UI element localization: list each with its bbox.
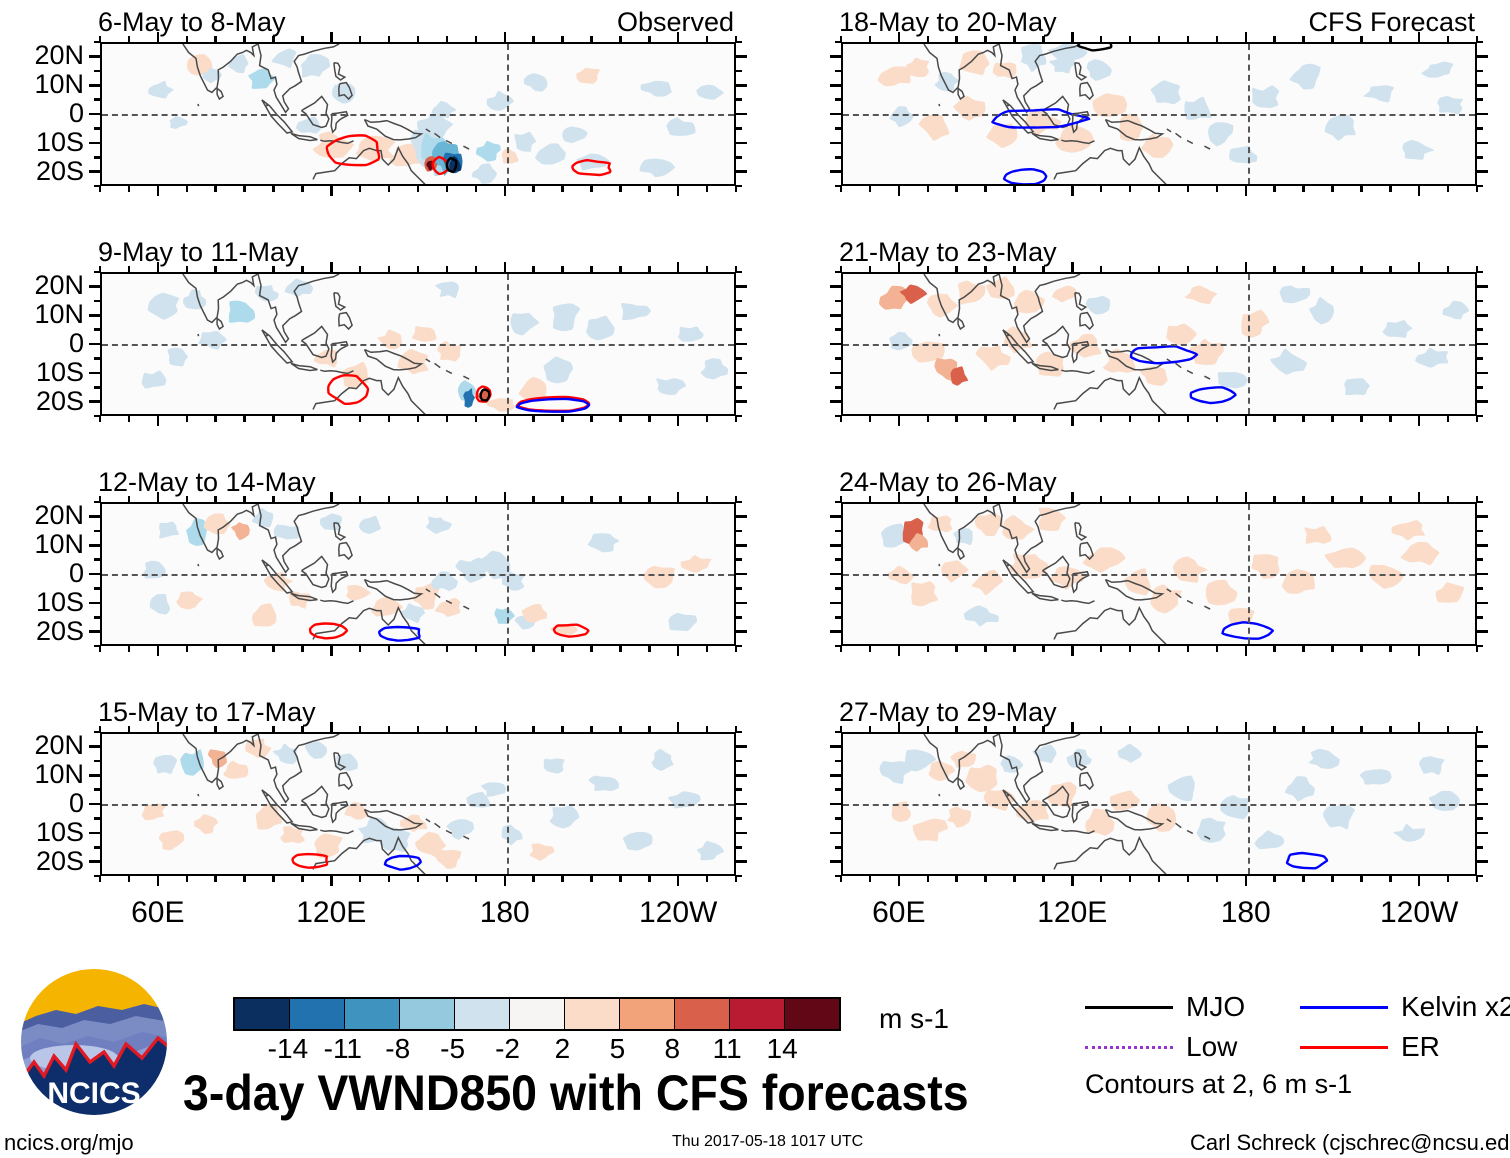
x-tick (532, 496, 535, 502)
x-tick (619, 266, 622, 272)
y-tick (89, 113, 100, 116)
x-tick (898, 416, 901, 426)
colorbar-swatch-4 (455, 999, 510, 1029)
y-tick-label: 0 (69, 330, 84, 357)
x-tick (186, 36, 189, 42)
anomaly-shading (621, 303, 651, 320)
coastline (217, 778, 223, 789)
x-tick (475, 496, 478, 502)
x-tick (1302, 876, 1305, 882)
anomaly-shading (1166, 324, 1197, 346)
y-tick (835, 156, 841, 159)
y-tick (1477, 113, 1488, 116)
y-tick (736, 300, 742, 303)
x-tick (1158, 186, 1161, 192)
y-tick (736, 745, 747, 748)
x-tick (1013, 266, 1016, 272)
coastline (1054, 608, 1170, 646)
equator-line (843, 114, 1475, 116)
y-tick (835, 300, 841, 303)
x-tick (417, 266, 420, 272)
anomaly-shading (656, 378, 686, 395)
dateline-marker (507, 44, 509, 184)
x-tick (590, 496, 593, 502)
x-tick (869, 416, 872, 422)
legend-line-swatch (1085, 1006, 1173, 1009)
anomaly-shading (1270, 349, 1307, 375)
y-tick (835, 530, 841, 533)
x-tick (359, 186, 362, 192)
anomaly-shading (696, 85, 723, 100)
colorbar-tick-label: -11 (324, 1035, 362, 1063)
x-tick (475, 266, 478, 272)
x-tick (214, 36, 217, 42)
y-tick (1477, 860, 1488, 863)
legend-label: ER (1401, 1033, 1440, 1061)
x-tick (475, 36, 478, 42)
x-tick (1187, 36, 1190, 42)
anomaly-shading (378, 330, 402, 350)
equator-line (843, 574, 1475, 576)
y-tick (1477, 170, 1488, 173)
anomaly-shading (150, 594, 170, 615)
anomaly-shading (1168, 776, 1195, 802)
coastline (463, 836, 469, 839)
column-header-forecast: CFS Forecast (1308, 9, 1475, 36)
x-tick (99, 496, 102, 502)
equator-line (102, 114, 734, 116)
x-tick (840, 646, 843, 652)
x-tick (532, 416, 535, 422)
x-tick (1302, 36, 1305, 42)
anomaly-shading (544, 356, 573, 383)
y-tick (1477, 156, 1483, 159)
x-tick (330, 876, 333, 886)
anomaly-shading (320, 513, 342, 530)
y-tick (736, 860, 747, 863)
footer-website[interactable]: ncics.org/mjo (4, 1130, 134, 1156)
y-tick-label: 10N (34, 71, 84, 98)
x-tick (186, 726, 189, 732)
y-tick (736, 55, 747, 58)
legend-item-mjo: MJO (1085, 993, 1245, 1021)
anomaly-shading (667, 117, 696, 136)
x-tick (1216, 36, 1219, 42)
anomaly-shading (435, 850, 461, 869)
anomaly-shading (1185, 285, 1218, 304)
y-tick (736, 803, 747, 806)
legend-label: Kelvin x2 (1401, 993, 1510, 1021)
x-tick (1071, 722, 1074, 732)
anomaly-shading (588, 776, 619, 791)
legend-label: Low (1186, 1033, 1237, 1061)
anomaly-shading (889, 332, 912, 351)
y-tick (89, 170, 100, 173)
anomaly-shading (1120, 114, 1144, 142)
y-tick (736, 832, 747, 835)
anomaly-shading (1036, 351, 1064, 376)
anomaly-shading (256, 804, 283, 830)
x-tick (1100, 726, 1103, 732)
coastline (1204, 146, 1210, 149)
colorbar-tick-label: 8 (664, 1035, 680, 1063)
y-axis-labels-p1: 20N10N010S20S (0, 42, 84, 186)
x-tick (735, 36, 738, 42)
anomaly-shading (1436, 582, 1465, 602)
map-plot-p6 (841, 272, 1477, 416)
dateline-marker (507, 504, 509, 644)
x-tick (1360, 876, 1363, 882)
y-tick (1477, 70, 1483, 73)
x-tick (1302, 496, 1305, 502)
coastline (939, 104, 940, 106)
x-tick (1447, 416, 1450, 422)
y-tick (736, 630, 747, 633)
x-tick (869, 186, 872, 192)
y-tick (736, 760, 742, 763)
y-tick (94, 530, 100, 533)
y-tick (736, 515, 747, 518)
y-tick (830, 285, 841, 288)
x-tick (1273, 36, 1276, 42)
x-tick (214, 646, 217, 652)
anomaly-shading (953, 528, 973, 545)
colorbar-swatch-8 (675, 999, 730, 1029)
y-tick (1477, 314, 1488, 317)
coastline (463, 146, 469, 149)
y-tick (835, 328, 841, 331)
x-tick (1245, 262, 1248, 272)
x-tick (677, 876, 680, 886)
y-tick (94, 788, 100, 791)
y-tick (736, 328, 742, 331)
y-tick (1477, 400, 1488, 403)
y-tick (1477, 55, 1488, 58)
contour-kelvin (385, 856, 421, 870)
y-tick (94, 587, 100, 590)
x-tick (840, 36, 843, 42)
y-tick (835, 788, 841, 791)
anomaly-shading (426, 517, 452, 534)
x-tick (157, 262, 160, 272)
x-tick (706, 726, 709, 732)
anomaly-shading (1280, 286, 1311, 304)
anomaly-shading (486, 398, 515, 411)
x-tick (1273, 646, 1276, 652)
colorbar-tick-label: 11 (713, 1035, 742, 1063)
x-tick (388, 36, 391, 42)
y-tick (1477, 587, 1483, 590)
footer-author[interactable]: Carl Schreck (cjschrec@ncsu.edu) (1190, 1130, 1510, 1156)
anomaly-shading (1393, 824, 1425, 842)
anomaly-shading (183, 289, 206, 309)
coastline (958, 778, 964, 789)
anomaly-shading (502, 825, 523, 846)
x-tick (927, 416, 930, 422)
y-tick (94, 558, 100, 561)
y-tick (736, 372, 747, 375)
anomaly-shading (588, 533, 620, 552)
x-tick (1447, 496, 1450, 502)
x-tick (955, 496, 958, 502)
y-tick (89, 544, 100, 547)
anomaly-shading (975, 513, 1004, 536)
x-tick (984, 36, 987, 42)
x-tick (590, 646, 593, 652)
legend-line-swatch (1300, 1006, 1388, 1009)
y-axis-labels-p4: 20N10N010S20S (0, 732, 84, 876)
anomaly-shading (284, 278, 313, 297)
anomaly-shading (1429, 791, 1460, 811)
legend-item-er: ER (1300, 1033, 1440, 1061)
y-tick (736, 774, 747, 777)
y-tick (736, 156, 742, 159)
y-tick (89, 400, 100, 403)
y-tick (89, 343, 100, 346)
x-tick (590, 36, 593, 42)
anomaly-shading (976, 346, 1011, 371)
y-tick (94, 357, 100, 360)
x-tick-label: 120W (1380, 898, 1458, 928)
y-tick (736, 170, 747, 173)
anomaly-shading (1218, 372, 1248, 388)
anomaly-shading (889, 106, 913, 127)
x-tick (99, 646, 102, 652)
x-tick (272, 496, 275, 502)
x-tick (475, 186, 478, 192)
y-tick (830, 630, 841, 633)
x-tick (1187, 416, 1190, 422)
x-tick (1360, 266, 1363, 272)
x-tick (590, 726, 593, 732)
x-tick (1418, 876, 1421, 886)
x-tick (417, 496, 420, 502)
x-tick (504, 876, 507, 886)
coastline (291, 133, 318, 140)
anomaly-shading (1402, 140, 1434, 160)
y-tick (94, 98, 100, 101)
x-tick (1129, 266, 1132, 272)
coastline (258, 44, 339, 112)
coastline (435, 823, 441, 827)
y-tick (830, 314, 841, 317)
x-tick (214, 496, 217, 502)
y-tick (1477, 774, 1488, 777)
x-tick (619, 416, 622, 422)
y-tick-label: 20N (34, 42, 84, 69)
anomaly-shading (514, 132, 536, 152)
y-tick-label: 20S (36, 848, 84, 875)
x-tick (590, 416, 593, 422)
x-tick (272, 726, 275, 732)
x-tick (330, 186, 333, 196)
x-tick (99, 876, 102, 882)
coastline (1080, 543, 1093, 559)
x-tick (677, 186, 680, 196)
y-tick (89, 630, 100, 633)
x-tick (1302, 186, 1305, 192)
y-tick-label: 20N (34, 502, 84, 529)
y-tick (1477, 142, 1488, 145)
y-tick (89, 573, 100, 576)
x-tick (1245, 492, 1248, 502)
x-tick (1245, 32, 1248, 42)
x-tick (359, 496, 362, 502)
x-tick (648, 496, 651, 502)
anomaly-shading (1184, 97, 1211, 120)
x-tick (186, 416, 189, 422)
colorbar-swatch-3 (400, 999, 455, 1029)
x-tick (243, 646, 246, 652)
anomaly-shading (993, 62, 1017, 78)
y-tick (1477, 832, 1488, 835)
y-tick-label: 20S (36, 388, 84, 415)
anomaly-shading (1325, 115, 1356, 141)
x-tick (1476, 726, 1479, 732)
equator-line (102, 804, 734, 806)
x-tick (1071, 876, 1074, 886)
y-axis-labels-p3: 20N10N010S20S (0, 502, 84, 646)
x-tick (504, 492, 507, 502)
x-tick (1042, 876, 1045, 882)
colorbar-swatch-7 (620, 999, 675, 1029)
y-tick (830, 400, 841, 403)
anomaly-shading (159, 830, 184, 850)
y-tick (736, 314, 747, 317)
x-tick (1013, 876, 1016, 882)
y-tick-label: 10S (36, 359, 84, 386)
x-tick (1158, 416, 1161, 422)
x-tick (157, 416, 160, 426)
x-tick (1042, 266, 1045, 272)
y-tick (1477, 386, 1483, 389)
coastline (1204, 606, 1210, 609)
x-tick (1042, 416, 1045, 422)
x-tick (388, 876, 391, 882)
coastline (1080, 313, 1093, 329)
x-tick (1042, 36, 1045, 42)
y-tick (830, 602, 841, 605)
anomaly-shading (878, 66, 911, 86)
anomaly-shading (1220, 795, 1250, 819)
x-tick (1360, 186, 1363, 192)
colorbar-swatch-2 (345, 999, 400, 1029)
anomaly-shading (911, 581, 938, 606)
x-tick (272, 186, 275, 192)
x-tick (648, 726, 651, 732)
y-tick (736, 573, 747, 576)
x-tick (1331, 646, 1334, 652)
x-tick (1476, 186, 1479, 192)
coastline (217, 548, 223, 559)
y-tick (835, 817, 841, 820)
x-tick (1476, 416, 1479, 422)
coastline (1187, 831, 1193, 834)
anomaly-shading (1052, 286, 1077, 303)
x-tick (1216, 726, 1219, 732)
coastline (320, 600, 353, 603)
x-tick (504, 646, 507, 656)
y-tick (89, 84, 100, 87)
y-tick (736, 530, 742, 533)
x-tick (869, 646, 872, 652)
x-tick (1187, 186, 1190, 192)
y-tick (736, 70, 742, 73)
anomaly-shading (639, 159, 675, 177)
map-plot-p3 (100, 502, 736, 646)
x-tick (446, 266, 449, 272)
coastline (1204, 376, 1210, 379)
x-tick (648, 646, 651, 652)
y-tick (835, 386, 841, 389)
y-tick (835, 846, 841, 849)
x-tick (1447, 186, 1450, 192)
anomaly-shading (346, 585, 371, 601)
x-tick (1216, 266, 1219, 272)
y-tick (736, 386, 742, 389)
x-tick (1389, 186, 1392, 192)
y-tick (1477, 343, 1488, 346)
anomaly-shading (471, 163, 497, 183)
x-tick (677, 262, 680, 272)
y-tick (736, 98, 742, 101)
y-tick (835, 558, 841, 561)
anomaly-shading (641, 81, 672, 97)
x-tick (504, 262, 507, 272)
x-tick (128, 36, 131, 42)
coastline (198, 794, 199, 796)
anomaly-shading (1437, 96, 1463, 114)
y-tick (89, 832, 100, 835)
ncics-logo[interactable]: NCICS (18, 966, 170, 1123)
anomaly-shading (148, 293, 180, 320)
x-tick (1389, 416, 1392, 422)
x-tick (735, 186, 738, 192)
anomaly-shading (1323, 805, 1355, 830)
y-tick (835, 616, 841, 619)
x-tick (955, 646, 958, 652)
x-tick (1360, 646, 1363, 652)
x-tick (214, 186, 217, 192)
colorbar-tick-label: 2 (555, 1035, 571, 1063)
y-tick (1477, 630, 1488, 633)
anomaly-shading (697, 841, 724, 860)
x-tick (272, 36, 275, 42)
x-tick (677, 722, 680, 732)
anomaly-shading (359, 516, 381, 534)
y-tick (835, 760, 841, 763)
y-tick (94, 817, 100, 820)
panel-title-p1: 6-May to 8-May (98, 9, 286, 36)
x-tick (1129, 726, 1132, 732)
y-tick (736, 400, 747, 403)
coastline (435, 363, 441, 367)
x-tick (869, 726, 872, 732)
x-tick (475, 646, 478, 652)
x-tick (1013, 416, 1016, 422)
x-tick (840, 186, 843, 192)
x-tick (1158, 496, 1161, 502)
coastline (1187, 371, 1193, 374)
coastline (1187, 141, 1193, 144)
anomaly-shading (965, 765, 997, 792)
x-tick (214, 876, 217, 882)
dateline-marker (1248, 44, 1250, 184)
x-tick (1187, 876, 1190, 882)
y-tick (1477, 558, 1483, 561)
dateline-marker (1248, 504, 1250, 644)
anomaly-shading (958, 281, 985, 305)
